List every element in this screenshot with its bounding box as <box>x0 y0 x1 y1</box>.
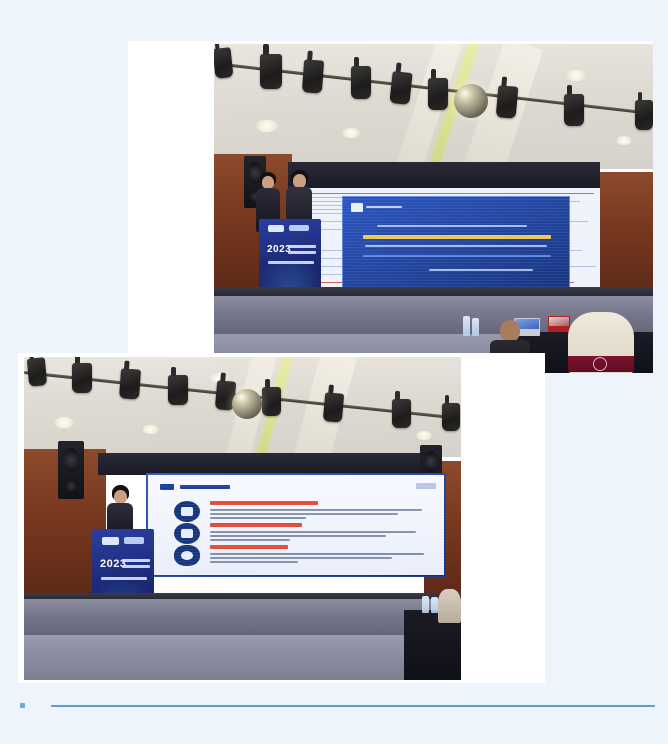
stage-light <box>27 357 47 386</box>
bullet-body: 依托数据分析与智能算法，助力建筑用电设备数字化改造与精细化管理。 <box>210 531 416 533</box>
photo-card-top[interactable]: 中国南方电网 2023年电力技术创新与“双碳目标”专题 可视化智建实全用电分析辅… <box>128 41 653 373</box>
bullet-body-line3 <box>210 539 290 541</box>
head <box>114 490 127 504</box>
stage-light <box>496 85 519 119</box>
ceiling-downlight <box>256 120 278 132</box>
horizontal-rule <box>51 705 655 707</box>
bullet-body: 通过可视化平台实时监测用电状态，及时发现隐患并预警，有效降低用电安全事故发生率。 <box>210 509 422 511</box>
speech-bubble-icon <box>174 545 200 566</box>
mirror-ball <box>454 84 488 118</box>
stage-light <box>442 403 460 431</box>
stage-light <box>119 368 141 399</box>
bullet-body: 通过节能降耗与负荷优化，降低用能成本，提升社会经济运行综合效率。 <box>210 553 424 555</box>
photo-card-bottom[interactable]: 社会效益分析 提升用电可视化，降低用电安全事故事件 通过可视化平台实时监测用电状… <box>18 353 545 683</box>
presentation-slide: 中国南方电网 2023年电力技术创新与“双碳目标”专题 可视化智建实全用电分析辅… <box>342 196 570 290</box>
stage-light <box>262 387 281 416</box>
laptop-icon-glyph <box>181 507 193 517</box>
bullet-title: 提升社会经济运行效率 <box>210 545 288 549</box>
ceiling-downlight <box>566 70 586 81</box>
photo-image-top[interactable]: 中国南方电网 2023年电力技术创新与“双碳目标”专题 可视化智建实全用电分析辅… <box>214 44 653 373</box>
wall-wood-panel-right <box>594 172 653 292</box>
slide-presenter-line: 汇报单位：广州供电局有限公司 <box>429 269 533 271</box>
bar-chart-icon-glyph <box>181 529 193 539</box>
stage-header-valance <box>98 453 428 475</box>
stage-light <box>72 363 92 393</box>
slide-title: 可视化智建实全用电分析辅助决策系统研究与应用 <box>363 235 551 239</box>
head <box>293 174 306 188</box>
banquet-chair <box>438 589 461 623</box>
slide-logo <box>351 203 363 212</box>
bullet-body-line3 <box>210 517 306 519</box>
slide-logo-label: 中国南方电网 <box>366 206 402 208</box>
podium-logo <box>102 537 119 545</box>
bullet-title: 推动电能、数字化、智能化、改造 <box>210 523 302 527</box>
slide-heading-marker <box>160 484 174 490</box>
conference-hall-scene-top: 中国南方电网 2023年电力技术创新与“双碳目标”专题 可视化智建实全用电分析辅… <box>214 44 653 373</box>
podium-line-1: 电力技术创新与 <box>122 559 150 562</box>
laptop <box>548 316 570 332</box>
stage-light <box>302 59 324 93</box>
photo-bottom-caption: Wide view of the same conference hall: a… <box>18 353 19 354</box>
stage-light <box>389 71 412 105</box>
led-video-wall: 中国南方电网 2023年电力技术创新与“双碳目标”专题 可视化智建实全用电分析辅… <box>308 188 600 293</box>
doc-text-line <box>312 193 594 194</box>
photo-top-caption: Conference hall stage with two presenter… <box>128 41 129 42</box>
stage-header-valance <box>288 162 600 190</box>
podium-logo-secondary <box>124 537 144 544</box>
slide-title-en: Intelligent Building Electricity Analyse… <box>365 245 547 247</box>
stage-light <box>392 399 411 428</box>
bullet-body-line2 <box>210 557 392 559</box>
ceiling-downlight <box>416 431 432 440</box>
slide-event-line: 2023年电力技术创新与“双碳目标”专题 <box>377 225 527 227</box>
slide-corner-logo <box>416 483 436 489</box>
photo-image-bottom[interactable]: 社会效益分析 提升用电可视化，降低用电安全事故事件 通过可视化平台实时监测用电状… <box>24 357 461 680</box>
laptop-icon <box>174 501 200 522</box>
water-bottle <box>431 597 438 613</box>
podium-line-2: 知识管理交流会 <box>122 565 150 568</box>
bar-chart-icon <box>174 523 200 544</box>
stage-light <box>564 94 584 126</box>
stage-light <box>323 392 344 423</box>
podium-line-1: 电力技术创新与 <box>288 245 316 248</box>
podium: 2023 电力技术创新与 知识管理交流会 暗科技成果转化管理办法 <box>259 219 321 291</box>
presentation-slide: 社会效益分析 提升用电可视化，降低用电安全事故事件 通过可视化平台实时监测用电状… <box>148 475 444 575</box>
slide-divider <box>363 255 551 257</box>
bullet-body-line2 <box>210 535 386 537</box>
stage-light <box>260 54 282 89</box>
stage-light <box>168 375 188 405</box>
podium-line-2: 知识管理交流会 <box>288 251 316 254</box>
podium-logo-secondary <box>289 225 309 231</box>
bullet-title: 提升用电可视化，降低用电安全事故事件 <box>210 501 318 505</box>
chair-buckle <box>593 357 607 371</box>
mirror-ball <box>232 389 262 419</box>
stage-light <box>635 100 653 130</box>
podium-line-3: 暗科技成果转化管理办法 <box>268 261 314 264</box>
stage-light <box>214 47 234 79</box>
ceiling-downlight <box>616 136 632 145</box>
bullet-body-line3 <box>210 561 298 563</box>
head <box>500 320 520 342</box>
stage-light <box>428 78 448 110</box>
presenter <box>106 485 134 533</box>
podium-logo <box>268 225 284 232</box>
floor-carpet <box>24 635 461 680</box>
ceiling-downlight <box>342 128 360 138</box>
slide-heading: 社会效益分析 <box>180 485 230 489</box>
led-video-wall: 社会效益分析 提升用电可视化，降低用电安全事故事件 通过可视化平台实时监测用电状… <box>146 473 446 577</box>
conference-hall-scene-bottom: 社会效益分析 提升用电可视化，降低用电安全事故事件 通过可视化平台实时监测用电状… <box>24 357 461 680</box>
bullet-marker-dot <box>20 703 25 708</box>
podium-line-3: 暗科技成果转化管理办法 <box>101 577 147 580</box>
water-bottle <box>463 316 470 336</box>
laptop-screen <box>549 317 569 326</box>
ceiling-downlight <box>54 417 74 428</box>
water-bottle <box>422 596 429 613</box>
stage-light <box>351 66 371 99</box>
ceiling-downlight <box>142 425 159 434</box>
bullet-body-line2 <box>210 513 398 515</box>
water-bottle <box>472 318 479 336</box>
line-array-speaker <box>58 441 84 499</box>
speech-bubble-icon-glyph <box>181 551 193 561</box>
